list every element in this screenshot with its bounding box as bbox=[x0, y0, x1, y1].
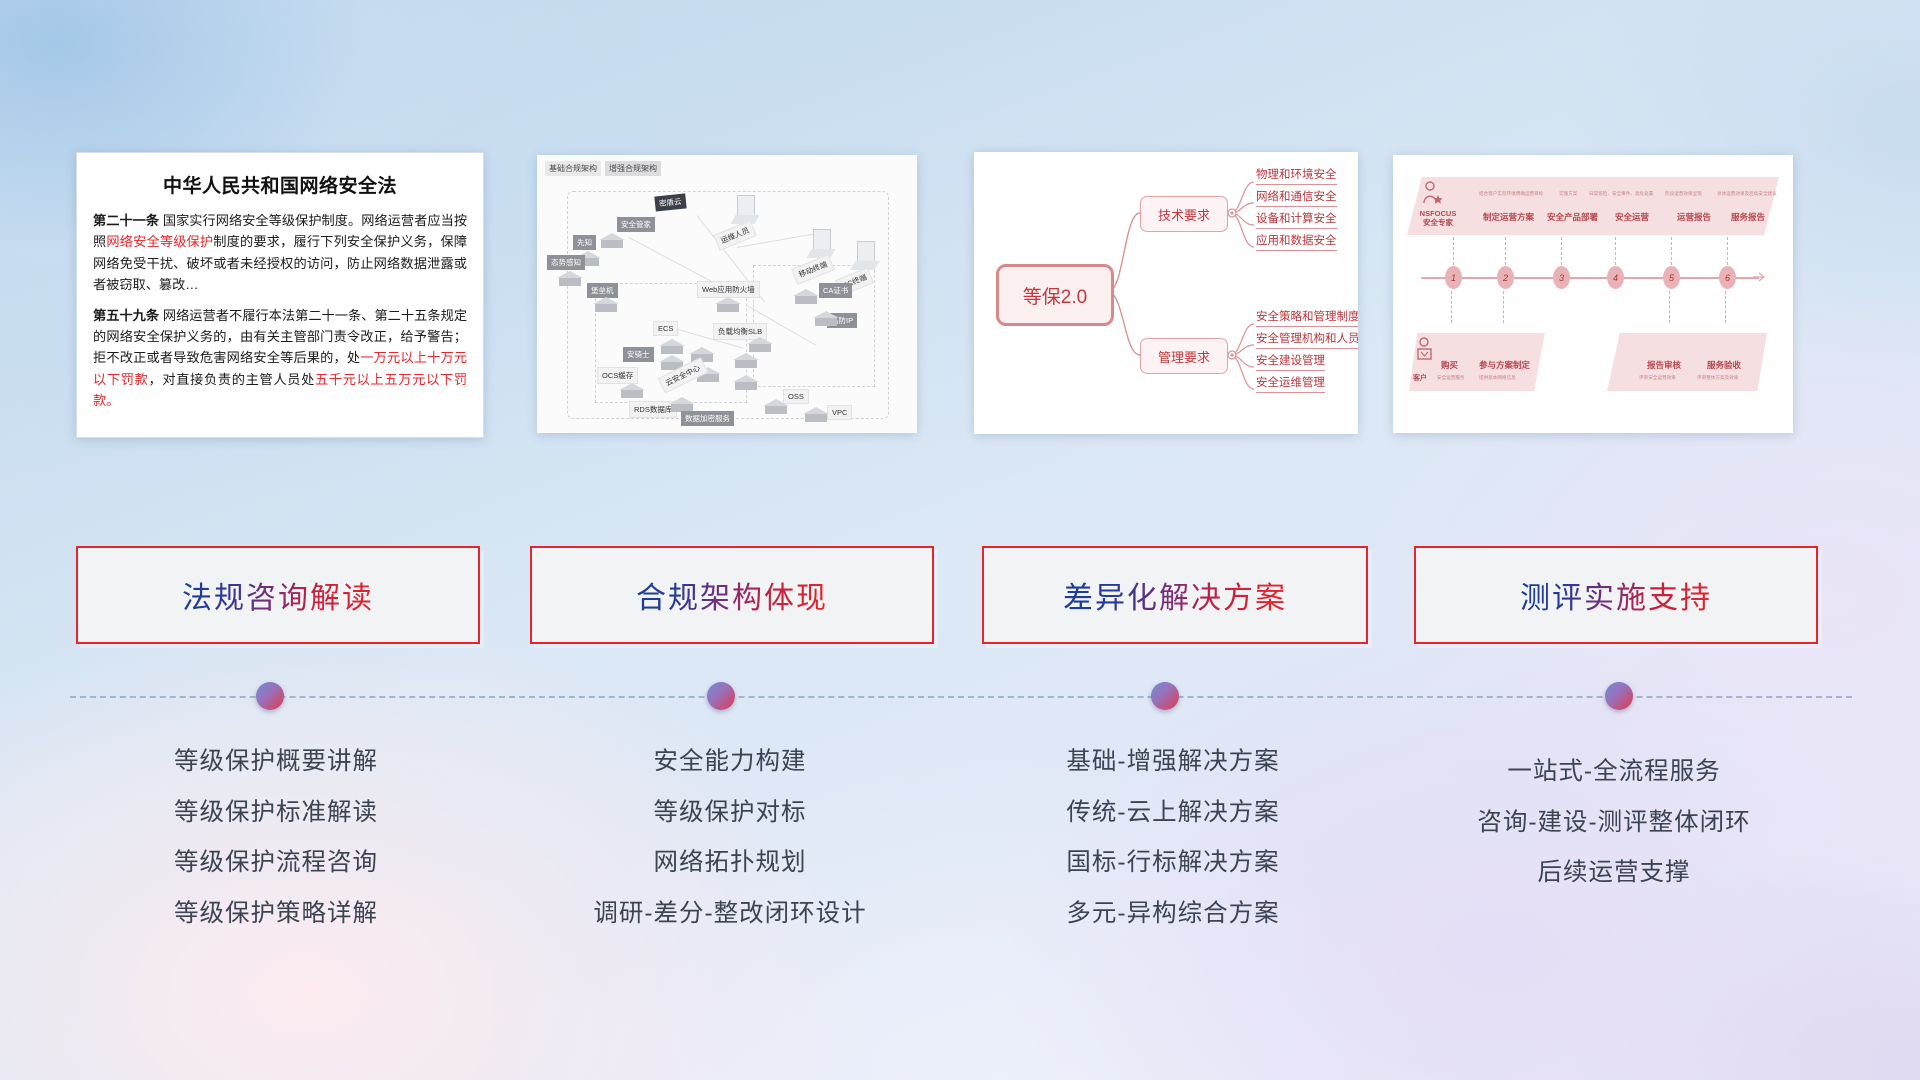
list-item: 等级保护标准解读 bbox=[76, 801, 476, 826]
timeline-marker-1[interactable] bbox=[256, 682, 284, 710]
list-item: 传统-云上解决方案 bbox=[982, 801, 1364, 826]
list-item: 多元-异构综合方案 bbox=[982, 902, 1364, 927]
list-item: 咨询-建设-测评整体闭环 bbox=[1414, 811, 1814, 836]
section-items-1: 等级保护概要讲解 等级保护标准解读 等级保护流程咨询 等级保护策略详解 bbox=[76, 750, 476, 952]
list-item: 后续运营支撑 bbox=[1414, 861, 1814, 886]
section-heading-1[interactable]: 法规咨询解读 bbox=[76, 546, 480, 644]
list-item: 等级保护对标 bbox=[530, 801, 930, 826]
section-heading-3-label: 差异化解决方案 bbox=[1063, 573, 1287, 617]
section-items-2: 安全能力构建 等级保护对标 网络拓扑规划 调研-差分-整改闭环设计 bbox=[530, 750, 930, 952]
section-heading-2[interactable]: 合规架构体现 bbox=[530, 546, 934, 644]
section-heading-4[interactable]: 测评实施支持 bbox=[1414, 546, 1818, 644]
section-heading-2-label: 合规架构体现 bbox=[636, 573, 828, 617]
list-item: 一站式-全流程服务 bbox=[1414, 760, 1814, 785]
section-items-3: 基础-增强解决方案 传统-云上解决方案 国标-行标解决方案 多元-异构综合方案 bbox=[982, 750, 1364, 952]
section-items-4: 一站式-全流程服务 咨询-建设-测评整体闭环 后续运营支撑 bbox=[1414, 760, 1814, 912]
list-item: 安全能力构建 bbox=[530, 750, 930, 775]
timeline-marker-4[interactable] bbox=[1605, 682, 1633, 710]
section-heading-row: 法规咨询解读 合规架构体现 差异化解决方案 测评实施支持 等级保护概要讲解 等级… bbox=[0, 0, 1920, 1080]
timeline-marker-3[interactable] bbox=[1151, 682, 1179, 710]
list-item: 等级保护流程咨询 bbox=[76, 851, 476, 876]
section-heading-3[interactable]: 差异化解决方案 bbox=[982, 546, 1368, 644]
list-item: 基础-增强解决方案 bbox=[982, 750, 1364, 775]
list-item: 等级保护策略详解 bbox=[76, 902, 476, 927]
list-item: 等级保护概要讲解 bbox=[76, 750, 476, 775]
timeline-marker-2[interactable] bbox=[707, 682, 735, 710]
list-item: 网络拓扑规划 bbox=[530, 851, 930, 876]
timeline-dashed-line bbox=[70, 696, 1852, 700]
section-heading-1-label: 法规咨询解读 bbox=[182, 573, 374, 617]
list-item: 调研-差分-整改闭环设计 bbox=[530, 902, 930, 927]
section-heading-4-label: 测评实施支持 bbox=[1520, 573, 1712, 617]
list-item: 国标-行标解决方案 bbox=[982, 851, 1364, 876]
